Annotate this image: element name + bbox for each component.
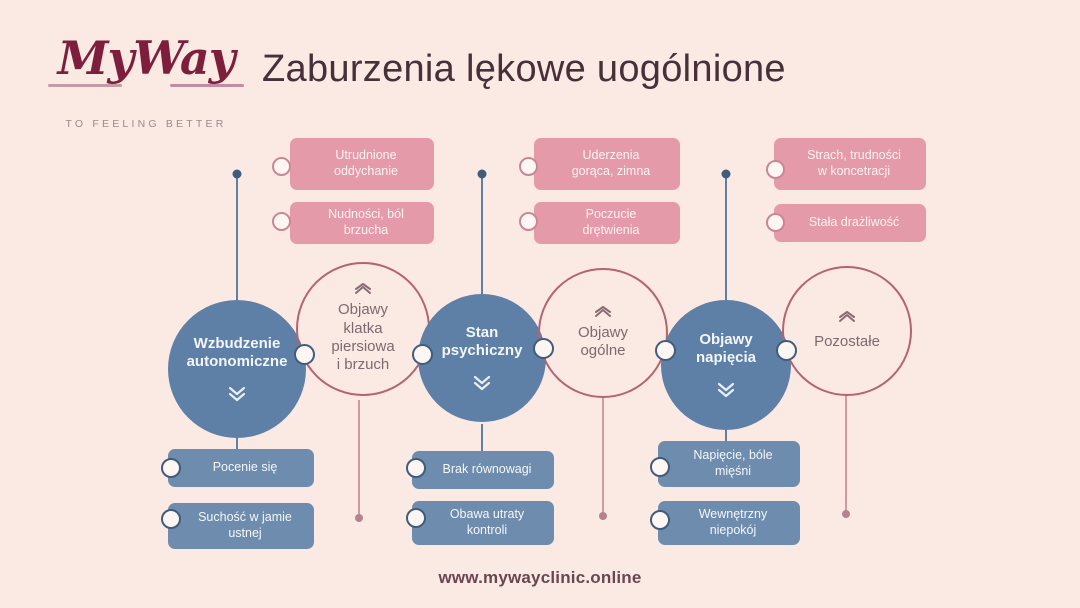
node-label: Wzbudzenieautonomiczne [187, 335, 288, 372]
pill-obawa-utraty-kontroli[interactable]: Obawa utratykontroli [412, 501, 554, 545]
chevron-down-icon [226, 385, 248, 403]
pill-dot [161, 509, 181, 529]
node-objawy-napiecia[interactable]: Objawynapięcia [661, 300, 791, 430]
logo-rule-right [170, 84, 244, 87]
pill-napiecie-bole-miesni[interactable]: Napięcie, bólemięśni [658, 441, 800, 487]
pill-suchosc-w-jamie-ustnej[interactable]: Suchość w jamieustnej [168, 503, 314, 549]
pill-dot [272, 157, 291, 176]
junction-dot [655, 340, 676, 361]
node-label: Objawyogólne [578, 324, 628, 361]
pill-label: Pocenie się [213, 460, 278, 476]
node-label: Stanpsychiczny [442, 324, 523, 361]
pill-strach-trudnosci-w-koncetracji[interactable]: Strach, trudnościw koncetracji [774, 138, 926, 190]
node-stan-psychiczny[interactable]: Stanpsychiczny [418, 294, 546, 422]
junction-dot [294, 344, 315, 365]
pill-utrudnione-oddychanie[interactable]: Utrudnioneoddychanie [290, 138, 434, 190]
pill-dot [519, 212, 538, 231]
junction-dot [412, 344, 433, 365]
node-pozostale[interactable]: Pozostałe [782, 266, 912, 396]
pill-label: Nudności, bólbrzucha [328, 207, 404, 238]
chevron-down-icon [715, 381, 737, 399]
pill-poczucie-dretwienia[interactable]: Poczuciedrętwienia [534, 202, 680, 244]
node-objawy-ogolne[interactable]: Objawyogólne [538, 268, 668, 398]
chevron-up-icon [352, 283, 374, 295]
pill-stala-drazliwosc[interactable]: Stała drażliwość [774, 204, 926, 242]
pill-label: Brak równowagi [443, 462, 532, 478]
chevron-up-icon [836, 311, 858, 323]
pill-label: Utrudnioneoddychanie [334, 148, 398, 179]
logo-rule-left [48, 84, 122, 87]
junction-dot [776, 340, 797, 361]
pill-pocenie-sie[interactable]: Pocenie się [168, 449, 314, 487]
pill-dot [766, 213, 785, 232]
pill-label: Wewnętrznyniepokój [699, 507, 768, 538]
brand-logo: MyWay TO FEELING BETTER [48, 22, 244, 126]
pill-dot [272, 212, 291, 231]
pill-label: Poczuciedrętwienia [583, 207, 640, 238]
pill-dot [406, 508, 426, 528]
pill-label: Uderzeniagorąca, zimna [572, 148, 651, 179]
pill-label: Obawa utratykontroli [450, 507, 524, 538]
pill-dot [650, 457, 670, 477]
node-label: Objawyklatkapiersiowai brzuch [331, 301, 394, 374]
pill-label: Strach, trudnościw koncetracji [807, 148, 901, 179]
infographic-canvas: MyWay TO FEELING BETTER Zaburzenia lękow… [0, 0, 1080, 608]
chevron-down-icon [471, 374, 493, 392]
node-wzbudzenie-autonomiczne[interactable]: Wzbudzenieautonomiczne [168, 300, 306, 438]
node-label: Pozostałe [814, 333, 880, 351]
page-title: Zaburzenia lękowe uogólnione [262, 48, 786, 91]
pill-label: Napięcie, bólemięśni [693, 448, 772, 479]
pill-dot [161, 458, 181, 478]
pill-label: Suchość w jamieustnej [198, 510, 292, 541]
pill-brak-rownowagi[interactable]: Brak równowagi [412, 451, 554, 489]
pill-label: Stała drażliwość [809, 215, 899, 231]
pill-uderzenia-goraca-zimna[interactable]: Uderzeniagorąca, zimna [534, 138, 680, 190]
pill-wewnetrzny-niepokoj[interactable]: Wewnętrznyniepokój [658, 501, 800, 545]
pill-dot [519, 157, 538, 176]
node-objawy-klatka-piersiowa-i-brzuch[interactable]: Objawyklatkapiersiowai brzuch [296, 262, 430, 396]
chevron-up-icon [592, 306, 614, 318]
junction-dot [533, 338, 554, 359]
pill-dot [650, 510, 670, 530]
pill-nudnosci-bol-brzucha[interactable]: Nudności, bólbrzucha [290, 202, 434, 244]
logo-tagline: TO FEELING BETTER [48, 118, 244, 130]
pill-dot [766, 160, 785, 179]
pill-dot [406, 458, 426, 478]
node-label: Objawynapięcia [696, 331, 756, 368]
footer-url[interactable]: www.mywayclinic.online [0, 568, 1080, 588]
